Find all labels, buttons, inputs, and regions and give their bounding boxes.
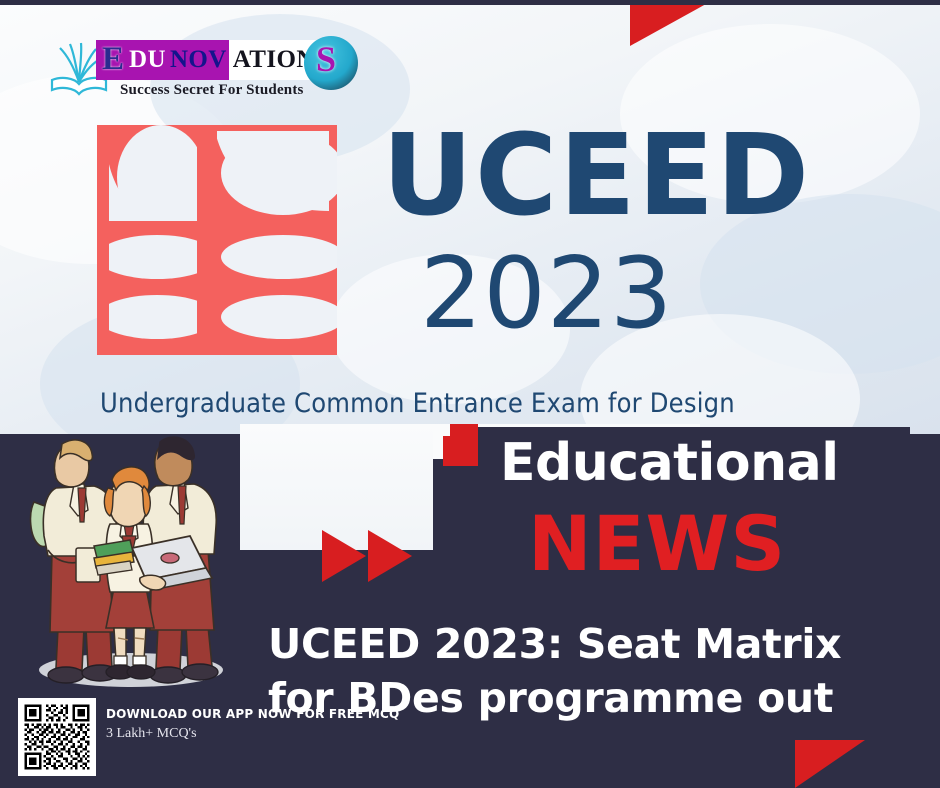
news-label-news: NEWS	[528, 506, 786, 582]
red-triangle-icon	[630, 4, 706, 46]
brand-letters-du: DU	[127, 40, 168, 80]
brand-letter-s: S	[316, 38, 336, 80]
app-promo-subline: 3 Lakh+ MCQ's	[106, 726, 399, 742]
three-students-with-laptop-illustration	[22, 432, 240, 690]
page-title-year: 2023	[420, 245, 673, 343]
app-promo-text: DOWNLOAD OUR APP NOW FOR FREE MCQ 3 Lakh…	[106, 698, 399, 742]
top-navy-bar	[0, 0, 940, 5]
brand-letters-nov: NOV	[168, 40, 229, 80]
app-promo-headline: DOWNLOAD OUR APP NOW FOR FREE MCQ	[106, 706, 399, 722]
play-arrow-icon	[322, 530, 366, 582]
page-subtitle: Undergraduate Common Entrance Exam for D…	[100, 388, 735, 419]
right-dark-strip	[910, 595, 940, 788]
brand-wordmark: E DU NOV ATION	[96, 40, 319, 80]
news-label-educational: Educational	[500, 437, 839, 489]
red-corner-notch-icon	[443, 436, 465, 466]
qr-code-icon[interactable]	[18, 698, 96, 776]
brand-logo[interactable]: E DU NOV ATION S Success Secret For Stud…	[48, 36, 338, 112]
play-arrow-icon	[368, 530, 412, 582]
brand-letter-e: E	[96, 40, 127, 80]
app-promo-block[interactable]: DOWNLOAD OUR APP NOW FOR FREE MCQ 3 Lakh…	[18, 698, 399, 776]
page-title: UCEED	[382, 120, 811, 232]
brand-tagline: Success Secret For Students	[120, 82, 304, 99]
poster-root: E DU NOV ATION S Success Secret For Stud…	[0, 0, 940, 788]
red-triangle-icon	[795, 740, 865, 788]
uceed-logo-mark	[97, 125, 337, 355]
